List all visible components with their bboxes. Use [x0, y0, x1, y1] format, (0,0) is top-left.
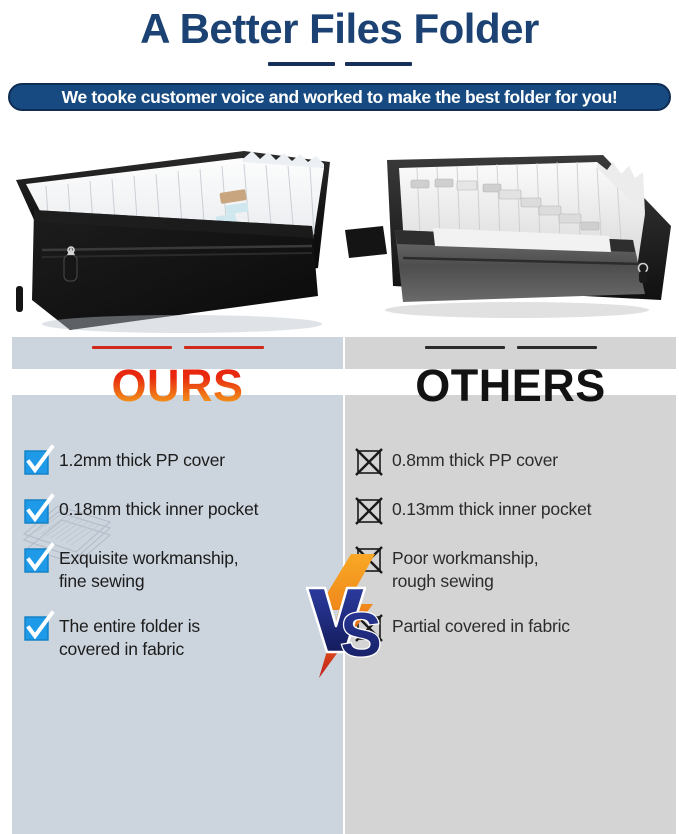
- list-item: 0.18mm thick inner pocket: [24, 497, 335, 525]
- checkbox-crossed-icon: [357, 498, 383, 524]
- list-item-label: 0.8mm thick PP cover: [392, 448, 558, 472]
- heading-ours: OURS: [12, 354, 343, 418]
- heading-dashes-others: [345, 346, 676, 349]
- column-others: OTHERS 0.8mm thick PP cover: [345, 118, 676, 834]
- list-item-label: 0.18mm thick inner pocket: [59, 497, 258, 521]
- list-item: Poor workmanship, rough sewing: [357, 546, 668, 593]
- list-item-label: The entire folder is covered in fabric: [59, 614, 200, 661]
- list-item: Partial covered in fabric: [357, 614, 668, 642]
- dash-right: [184, 346, 264, 349]
- svg-text:S: S: [340, 601, 381, 670]
- comparison-section: OURS: [0, 118, 679, 834]
- list-item: Exquisite workmanship, fine sewing: [24, 546, 335, 593]
- product-photo-ours: [12, 118, 343, 337]
- list-item: 0.8mm thick PP cover: [357, 448, 668, 476]
- list-item: 1.2mm thick PP cover: [24, 448, 335, 476]
- header: A Better Files Folder We tooke customer …: [0, 0, 679, 118]
- checkbox-checked-icon: [24, 498, 50, 524]
- vs-lightning-icon: S: [295, 552, 395, 682]
- title-divider-left: [268, 62, 335, 66]
- subtitle-banner: We tooke customer voice and worked to ma…: [8, 83, 671, 111]
- checkbox-checked-icon: [24, 449, 50, 475]
- column-ours: OURS: [12, 118, 343, 834]
- list-item-label: Exquisite workmanship, fine sewing: [59, 546, 238, 593]
- list-item-label: 0.13mm thick inner pocket: [392, 497, 591, 521]
- dash-left: [92, 346, 172, 349]
- checkbox-checked-icon: [24, 615, 50, 641]
- dash-right: [517, 346, 597, 349]
- heading-others: OTHERS: [345, 354, 676, 418]
- page-title: A Better Files Folder: [0, 2, 679, 56]
- checkbox-crossed-icon: [357, 449, 383, 475]
- list-item: The entire folder is covered in fabric: [24, 614, 335, 661]
- grey-folder-illustration: [345, 118, 676, 337]
- feature-list-ours: 1.2mm thick PP cover 0.18mm thick inner …: [12, 448, 343, 682]
- heading-dashes-ours: [12, 346, 343, 349]
- list-item-label: Poor workmanship, rough sewing: [392, 546, 538, 593]
- vs-badge: S: [295, 552, 395, 682]
- product-photo-others: [345, 118, 676, 337]
- list-item: 0.13mm thick inner pocket: [357, 497, 668, 525]
- black-folder-illustration: [12, 118, 343, 337]
- list-item-label: Partial covered in fabric: [392, 614, 570, 638]
- title-divider-right: [345, 62, 412, 66]
- title-divider: [0, 62, 679, 66]
- checkbox-checked-icon: [24, 547, 50, 573]
- dash-left: [425, 346, 505, 349]
- list-item-label: 1.2mm thick PP cover: [59, 448, 225, 472]
